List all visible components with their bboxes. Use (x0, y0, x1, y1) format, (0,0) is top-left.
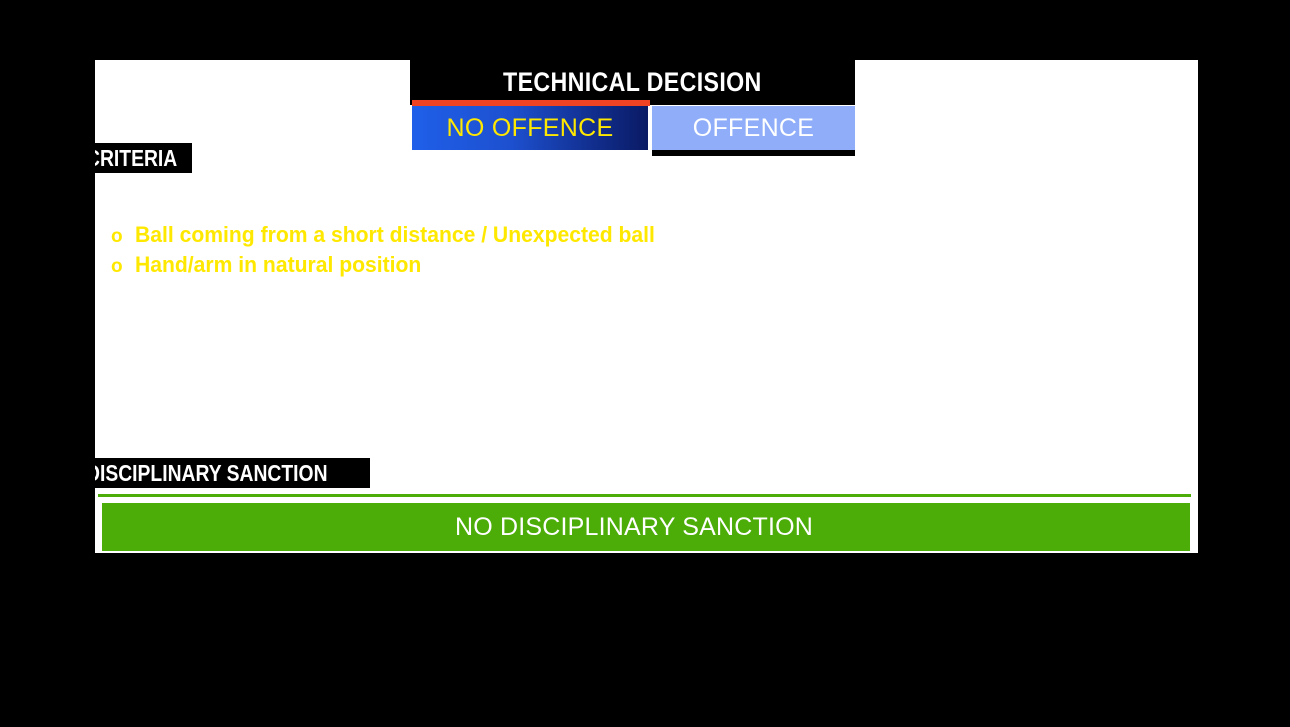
criteria-heading-label: CRITERIA (95, 147, 177, 170)
sanction-heading-label: DISCIPLINARY SANCTION (95, 462, 328, 485)
list-item-label: Hand/arm in natural position (135, 250, 421, 280)
criteria-list: o Ball coming from a short distance / Un… (111, 220, 1111, 280)
tab-no-offence-label: NO OFFENCE (447, 116, 614, 141)
sanction-divider (98, 494, 1191, 497)
header-bar: TECHNICAL DECISION (410, 60, 855, 105)
list-item-label: Ball coming from a short distance / Unex… (135, 220, 655, 250)
bullet-icon: o (111, 224, 135, 250)
sanction-heading-box: DISCIPLINARY SANCTION (95, 458, 370, 488)
criteria-heading-box: CRITERIA (95, 143, 192, 173)
tab-offence-label: OFFENCE (693, 116, 815, 141)
tab-no-offence[interactable]: NO OFFENCE (412, 106, 648, 150)
sanction-banner-label: NO DISCIPLINARY SANCTION (455, 515, 813, 540)
page-title: TECHNICAL DECISION (503, 69, 762, 96)
tab-offence[interactable]: OFFENCE (652, 106, 855, 156)
sanction-banner: NO DISCIPLINARY SANCTION (102, 503, 1190, 551)
list-item: o Hand/arm in natural position (111, 250, 1111, 280)
bullet-icon: o (111, 254, 135, 280)
list-item: o Ball coming from a short distance / Un… (111, 220, 1111, 250)
